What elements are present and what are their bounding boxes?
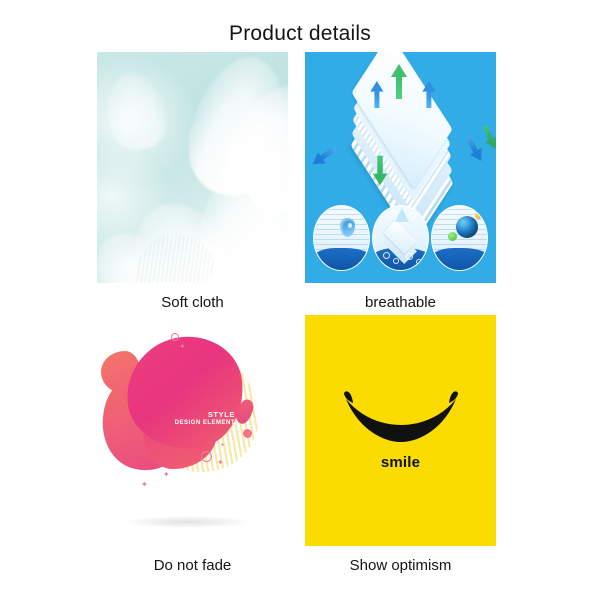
soft-glow-overlay [97, 52, 288, 283]
bubble-group [373, 206, 428, 270]
airflow-arrow-up-icon [372, 81, 381, 108]
drop-shadow [123, 516, 251, 528]
water-pool [313, 248, 370, 270]
fluid-design-image: STYLE DESIGN ELEMENT ✦ ✦ ✦ ✦ ● [97, 315, 288, 546]
sparkle-icon: ✦ [163, 471, 170, 479]
smile-label: smile [381, 454, 420, 471]
water-repellent-inset [313, 205, 370, 271]
detail-cell-do-not-fade[interactable]: STYLE DESIGN ELEMENT ✦ ✦ ✦ ✦ ● Do not fa… [97, 315, 288, 575]
germ-icon [475, 212, 482, 219]
design-label-line2: DESIGN ELEMENT [155, 420, 235, 427]
page-title: Product details [0, 22, 600, 46]
sparkle-icon: ✦ [217, 459, 224, 467]
design-label-line1: STYLE [155, 411, 235, 420]
airflow-arrow-side-icon [463, 134, 485, 163]
airflow-arrow-up-icon [424, 81, 433, 108]
soft-feathers-image [97, 52, 288, 283]
decorative-ring [171, 333, 179, 341]
moisture-wicking-inset [372, 205, 429, 271]
airflow-arrow-down-icon [376, 156, 386, 186]
detail-cell-soft-cloth[interactable]: Soft cloth [97, 52, 288, 312]
design-element-label: STYLE DESIGN ELEMENT [155, 411, 235, 427]
antibacterial-inset [431, 205, 488, 271]
germ-icon [448, 232, 457, 241]
smile-graphic-image: smile [305, 315, 496, 546]
smile-curve-icon [338, 390, 464, 448]
cell-caption: Do not fade [97, 557, 288, 575]
airflow-arrow-side-icon [310, 145, 338, 169]
cell-caption: Show optimism [305, 557, 496, 575]
decorative-ring [201, 451, 212, 462]
detail-cell-breathable[interactable]: breathable [305, 52, 496, 312]
airflow-arrow-side-icon [481, 124, 496, 150]
fabric-layer-stack [319, 62, 485, 190]
breathable-diagram-image [305, 52, 496, 283]
cell-caption: breathable [305, 294, 496, 312]
sparkle-icon: ✦ [141, 481, 148, 489]
sparkle-icon: ✦ [179, 343, 186, 351]
cell-caption: Soft cloth [97, 294, 288, 312]
airflow-arrow-up-icon [393, 64, 404, 99]
water-pool [431, 248, 488, 270]
sparkle-icon: ● [221, 443, 224, 448]
pink-accent-dot [243, 429, 252, 438]
globe-icon [456, 216, 478, 238]
feature-inset-row [313, 205, 488, 271]
detail-cell-show-optimism[interactable]: smile Show optimism [305, 315, 496, 575]
